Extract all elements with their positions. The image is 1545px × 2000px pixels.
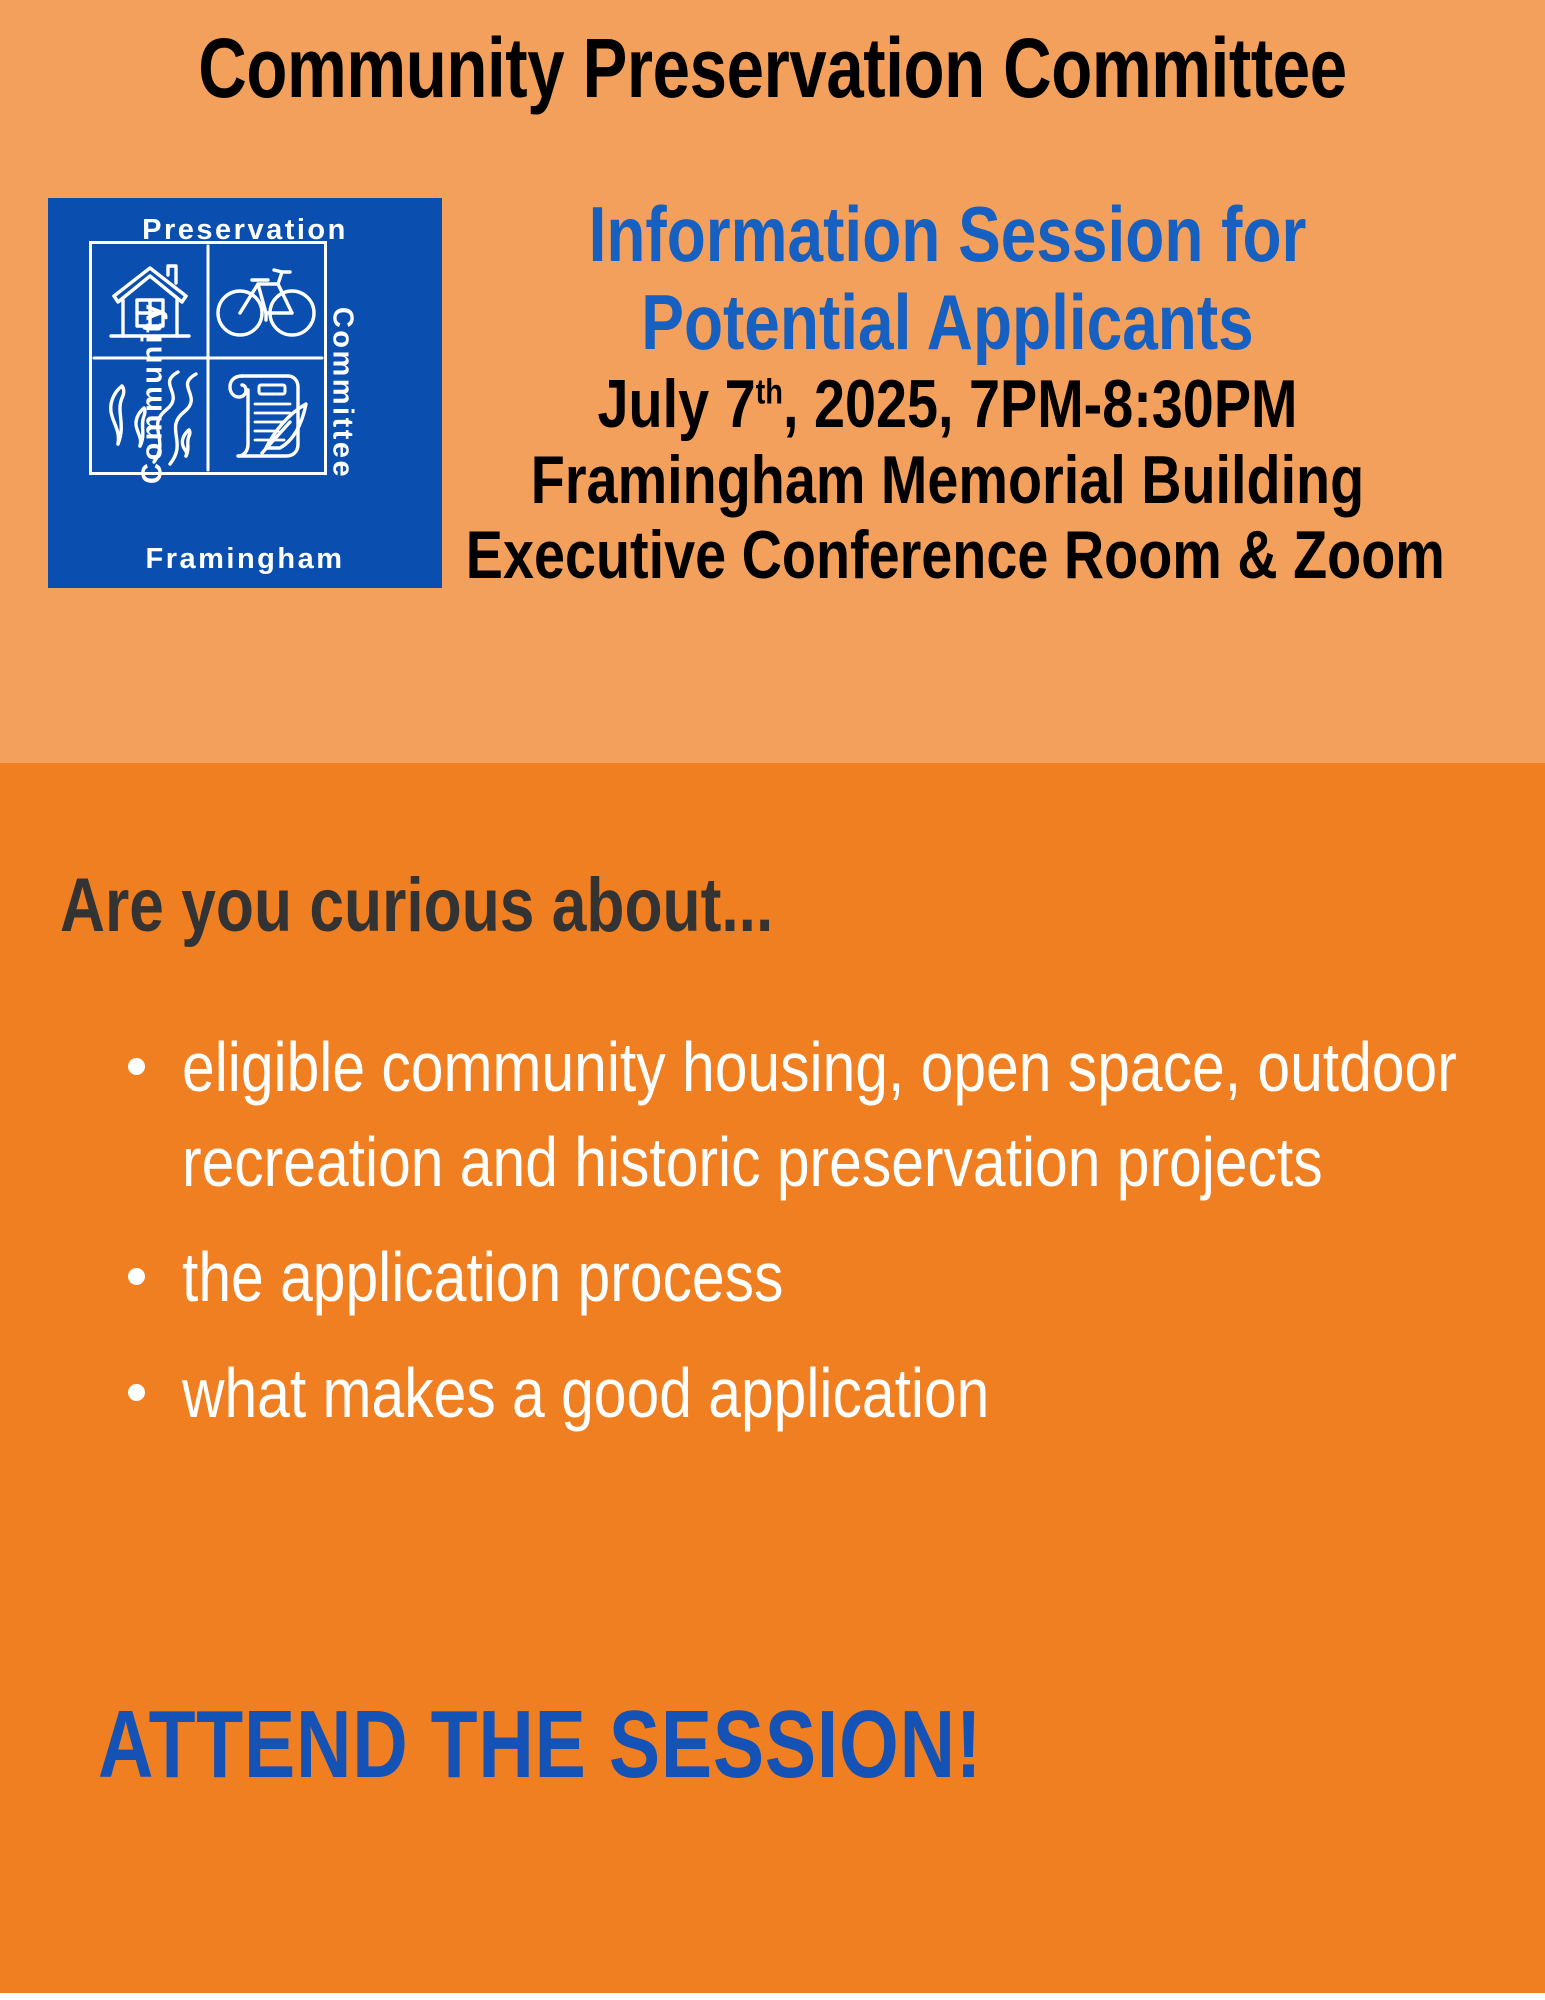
list-item: eligible community housing, open space, …	[110, 1020, 1510, 1210]
river-and-trees-icon	[111, 372, 196, 464]
event-date-ordinal: th	[756, 373, 783, 412]
bicycle-icon	[218, 270, 314, 335]
poster: Community Preservation Committee Preserv…	[0, 0, 1545, 2000]
session-title-line-2: Potential Applicants	[466, 280, 1430, 364]
scroll-and-quill-icon	[230, 376, 306, 456]
logo-label-committee: Committee	[325, 307, 358, 479]
bullet-dot-icon	[128, 1384, 145, 1401]
topics-list: eligible community housing, open space, …	[110, 1020, 1510, 1461]
event-room: Executive Conference Room & Zoom	[466, 519, 1430, 592]
event-venue: Framingham Memorial Building	[466, 444, 1430, 517]
list-item: what makes a good application	[110, 1346, 1510, 1441]
page-title: Community Preservation Committee	[155, 26, 1391, 110]
bullet-dot-icon	[128, 1058, 145, 1075]
event-date-prefix: July 7	[598, 366, 756, 442]
event-details: Information Session for Potential Applic…	[360, 192, 1535, 595]
list-item-label: eligible community housing, open space, …	[182, 1020, 1509, 1210]
event-datetime: July 7th, 2025, 7PM-8:30PM	[466, 368, 1430, 441]
logo-icon-grid	[89, 241, 327, 475]
list-item-label: the application process	[182, 1230, 1509, 1325]
logo-quadrant-svg	[92, 244, 324, 472]
list-item: the application process	[110, 1230, 1510, 1325]
footer-strip	[0, 1993, 1545, 2000]
list-item-label: what makes a good application	[182, 1346, 1509, 1441]
house-icon	[111, 266, 189, 336]
call-to-action: ATTEND THE SESSION!	[98, 1690, 982, 1800]
bullet-dot-icon	[128, 1268, 145, 1285]
curious-heading: Are you curious about...	[60, 862, 773, 949]
event-date-suffix: , 2025, 7PM-8:30PM	[783, 366, 1297, 442]
session-title-line-1: Information Session for	[466, 192, 1430, 276]
